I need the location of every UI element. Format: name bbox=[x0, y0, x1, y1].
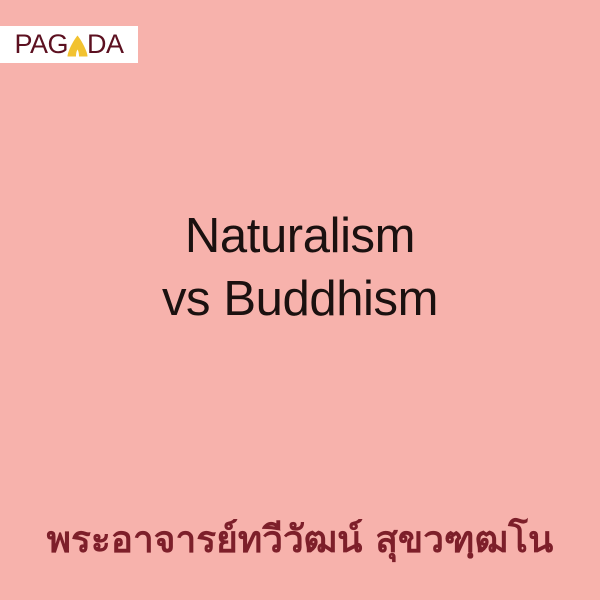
logo-wordmark: PAG DA bbox=[14, 31, 123, 58]
title-slide: PAG DA Naturalism vs Buddhism พระอาจารย์… bbox=[0, 0, 600, 600]
title-line-2: vs Buddhism bbox=[0, 268, 600, 331]
page-title: Naturalism vs Buddhism bbox=[0, 205, 600, 330]
speaker-name: พระอาจารย์ทวีวัฒน์ สุขวฑฺฒโน bbox=[47, 519, 554, 562]
logo-text-suffix: DA bbox=[87, 31, 124, 58]
speaker-credit: พระอาจารย์ทวีวัฒน์ สุขวฑฺฒโน bbox=[0, 519, 600, 562]
logo-text-prefix: PAG bbox=[14, 31, 68, 58]
pagoda-icon bbox=[67, 35, 88, 57]
pagoda-logo[interactable]: PAG DA bbox=[0, 26, 138, 63]
title-line-1: Naturalism bbox=[0, 205, 600, 268]
